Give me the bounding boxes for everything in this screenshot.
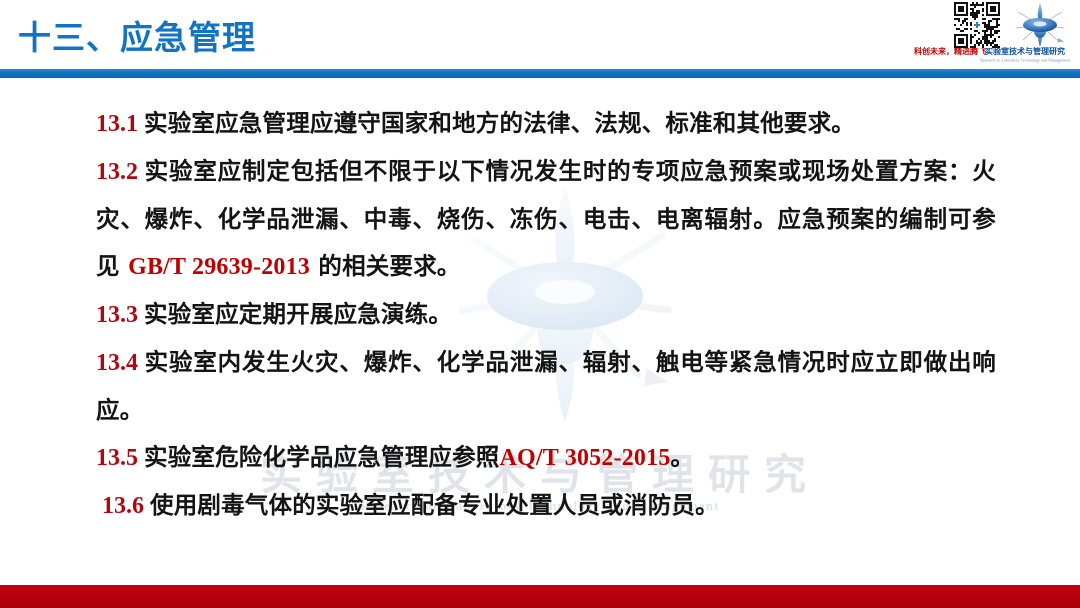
paragraph-text: 实验室应急管理应遵守国家和地方的法律、法规、标准和其他要求。 (144, 109, 855, 137)
paragraph-number: 13.5 (96, 445, 144, 471)
content-paragraph: 13.1 实验室应急管理应遵守国家和地方的法律、法规、标准和其他要求。 (96, 100, 996, 148)
content-body: 13.1 实验室应急管理应遵守国家和地方的法律、法规、标准和其他要求。13.2 … (96, 100, 996, 530)
paragraph-number: 13.2 (96, 159, 145, 185)
standard-reference: AQ/T 3052-2015 (500, 445, 671, 471)
content-paragraph: 13.4 实验室内发生火灾、爆炸、化学品泄漏、辐射、触电等紧急情况时应立即做出响… (96, 339, 996, 434)
paragraph-text: 使用剧毒气体的实验室应配备专业处置人员或消防员。 (150, 491, 719, 519)
paragraph-number: 13.1 (96, 111, 144, 137)
paragraph-number: 13.3 (96, 302, 144, 328)
paragraph-text: 实验室应定期开展应急演练。 (144, 300, 452, 328)
content-paragraph: 13.5 实验室危险化学品应急管理应参照AQ/T 3052-2015。 (96, 434, 996, 482)
paragraph-text: 实验室危险化学品应急管理应参照 (144, 443, 500, 471)
content-paragraph: 13.6 使用剧毒气体的实验室应配备专业处置人员或消防员。 (96, 482, 996, 530)
content-paragraph: 13.2 实验室应制定包括但不限于以下情况发生时的专项应急预案或现场处置方案：火… (96, 148, 996, 291)
qr-code-icon[interactable] (954, 2, 1000, 48)
paragraph-text: 。 (671, 443, 695, 471)
paragraph-number: 13.4 (96, 350, 145, 376)
paragraph-text: 实验室内发生火灾、爆炸、化学品泄漏、辐射、触电等紧急情况时应立即做出响应。 (96, 348, 996, 424)
brand-block: 科创未来，精进腾飞 实验室技术与管理研究 Research on Laborat… (888, 2, 1070, 66)
brand-org-cn: 实验室技术与管理研究 (980, 47, 1070, 57)
standard-reference: GB/T 29639-2013 (128, 254, 310, 280)
slide-root: 实验室技术与管理研究 Research on Laboratory Techno… (0, 0, 1080, 608)
atom-emblem-icon (1010, 2, 1070, 48)
title-divider (0, 69, 1080, 78)
brand-slogan: 科创未来，精进腾飞 (914, 47, 972, 57)
brand-captions: 科创未来，精进腾飞 实验室技术与管理研究 Research on Laborat… (888, 47, 1070, 63)
footer-bar (0, 585, 1080, 608)
content-paragraph: 13.3 实验室应定期开展应急演练。 (96, 291, 996, 339)
brand-org: 实验室技术与管理研究 Research on Laboratory Techno… (980, 47, 1070, 63)
paragraph-text: 的相关要求。 (310, 252, 461, 280)
brand-org-en: Research on Laboratory Technology and Ma… (973, 57, 1077, 64)
brand-logos-row (888, 2, 1070, 48)
paragraph-number: 13.6 (102, 493, 150, 519)
page-title: 十三、应急管理 (18, 16, 256, 60)
